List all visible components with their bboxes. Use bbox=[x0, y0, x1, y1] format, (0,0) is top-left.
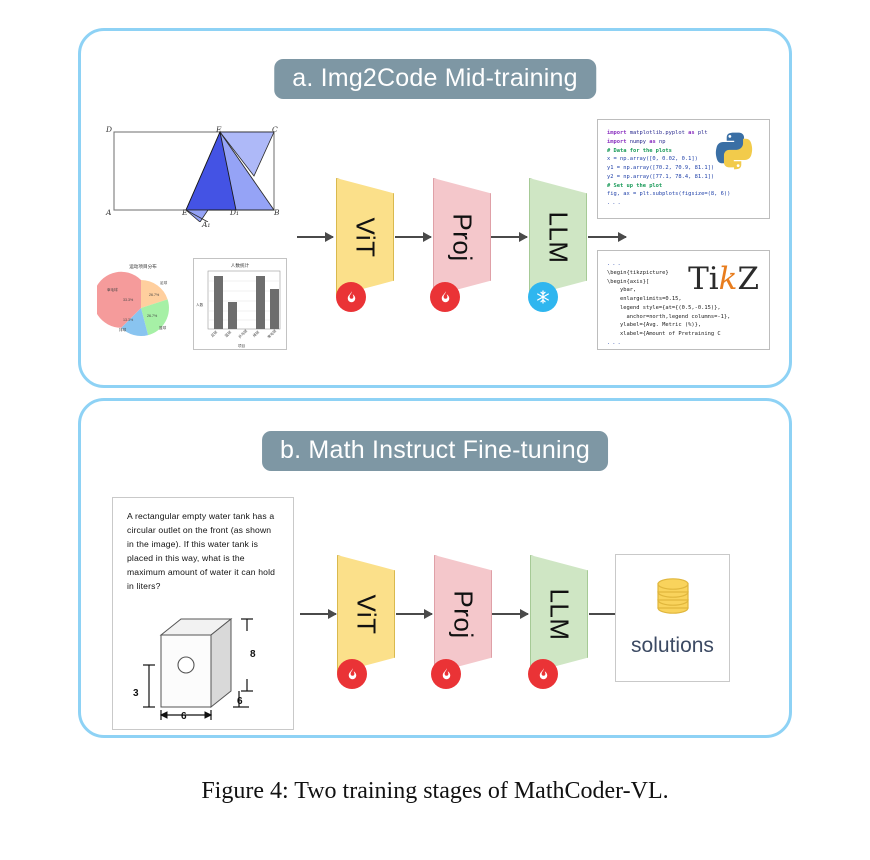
geometry-svg bbox=[104, 124, 286, 222]
fire-glyph bbox=[344, 290, 359, 305]
question-card: A rectangular empty water tank has a cir… bbox=[112, 497, 294, 730]
pie-slice-label-1: 篮球 bbox=[159, 326, 166, 331]
bar-chart-card: 人数统计 人数 项目 足球 篮球 乒乓球 排球 羍毛球 bbox=[193, 258, 287, 350]
pie-slice-value-0: 26.7% bbox=[149, 293, 159, 297]
llm-label-b: LLM bbox=[543, 588, 574, 640]
fire-glyph bbox=[536, 667, 551, 682]
vit-label-a: ViT bbox=[350, 217, 381, 257]
vit-label-b: ViT bbox=[351, 594, 382, 634]
fire-icon-proj-b bbox=[431, 659, 461, 689]
arrow-proj-to-llm-b bbox=[492, 613, 528, 615]
fire-icon-proj-a bbox=[430, 282, 460, 312]
geometry-vertex-A: A bbox=[106, 208, 111, 217]
solutions-card: solutions bbox=[615, 554, 730, 682]
pie-slice-label-3: 羍毛球 bbox=[107, 288, 118, 293]
pipeline-block-vit-a[interactable]: ViT bbox=[336, 178, 394, 296]
cube-dimension-8: 8 bbox=[250, 649, 256, 660]
bar-chart-title: 人数统计 bbox=[194, 263, 286, 269]
fire-glyph bbox=[439, 667, 454, 682]
pie-chart-title: 运动项目分布 bbox=[97, 264, 189, 270]
bar-chart-ylabel: 人数 bbox=[196, 303, 203, 308]
pipeline-block-vit-b[interactable]: ViT bbox=[337, 555, 395, 673]
geometry-vertex-F: F bbox=[216, 125, 221, 134]
panel-a-title: a. Img2Code Mid-training bbox=[274, 59, 596, 99]
geometry-vertex-B: B bbox=[274, 208, 280, 217]
cuboid-diagram-svg bbox=[113, 603, 295, 723]
arrow-proj-to-llm-a bbox=[491, 236, 527, 238]
arrow-vit-to-proj-a bbox=[395, 236, 431, 238]
figure-root: a. Img2Code Mid-training D F C A E D₁ B … bbox=[0, 0, 870, 860]
panel-b-title: b. Math Instruct Fine-tuning bbox=[262, 431, 608, 471]
pipeline-block-llm-b[interactable]: LLM bbox=[530, 555, 588, 673]
fire-glyph bbox=[438, 290, 453, 305]
llm-label-a: LLM bbox=[542, 211, 573, 263]
arrow-llm-to-output-a bbox=[588, 236, 626, 238]
pipeline-block-proj-a[interactable]: Proj bbox=[433, 178, 491, 296]
tikz-code-card: ... \begin{tikzpicture} \begin{axis}[ yb… bbox=[597, 250, 770, 350]
pie-slice-label-2: 排球 bbox=[119, 328, 126, 333]
geometry-vertex-D: D bbox=[106, 125, 112, 134]
arrow-vit-to-proj-b bbox=[396, 613, 432, 615]
proj-label-b: Proj bbox=[448, 590, 479, 638]
database-icon bbox=[652, 578, 694, 624]
tikz-wordmark: TikZ bbox=[688, 261, 759, 297]
geometry-vertex-E: E bbox=[182, 208, 187, 217]
solutions-label: solutions bbox=[631, 634, 714, 658]
pie-chart-svg bbox=[97, 258, 189, 350]
fire-icon-llm-b bbox=[528, 659, 558, 689]
fire-icon-vit-b bbox=[337, 659, 367, 689]
pipeline-block-proj-b[interactable]: Proj bbox=[434, 555, 492, 673]
cube-dimension-6-depth: 6 bbox=[237, 696, 243, 707]
python-logo-svg bbox=[713, 130, 755, 172]
fire-glyph bbox=[345, 667, 360, 682]
snowflake-icon-llm-a bbox=[528, 282, 558, 312]
pie-slice-label-0: 足球 bbox=[160, 281, 167, 286]
fire-icon-vit-a bbox=[336, 282, 366, 312]
pie-slice-value-2: 13.3% bbox=[123, 318, 133, 322]
geometry-vertex-C: C bbox=[272, 125, 278, 134]
snowflake-glyph bbox=[535, 289, 551, 305]
pie-slice-value-3: 33.3% bbox=[123, 298, 133, 302]
bar-chart-xlabel: 项目 bbox=[238, 344, 245, 349]
geometry-vertex-D1: D₁ bbox=[230, 208, 239, 217]
cube-dimension-6-width: 6 bbox=[181, 711, 187, 722]
question-text: A rectangular empty water tank has a cir… bbox=[127, 510, 277, 594]
cube-dimension-3: 3 bbox=[133, 688, 139, 699]
python-logo bbox=[713, 130, 755, 172]
geometry-vertex-A1: A₁ bbox=[202, 220, 210, 229]
pie-slice-value-1: 26.7% bbox=[147, 314, 157, 318]
arrow-input-to-vit-a bbox=[297, 236, 333, 238]
python-code-card: import matplotlib.pyplot as plt import n… bbox=[597, 119, 770, 219]
geometry-diagram: D F C A E D₁ B A₁ bbox=[104, 124, 286, 222]
proj-label-a: Proj bbox=[447, 213, 478, 261]
pie-chart-card: 运动项目分布 足球 26.7% 篮球 26.7% 排球 13.3% 羍毛球 33… bbox=[97, 258, 189, 350]
arrow-input-to-vit-b bbox=[300, 613, 336, 615]
figure-caption: Figure 4: Two training stages of MathCod… bbox=[0, 778, 870, 805]
pipeline-block-llm-a[interactable]: LLM bbox=[529, 178, 587, 296]
